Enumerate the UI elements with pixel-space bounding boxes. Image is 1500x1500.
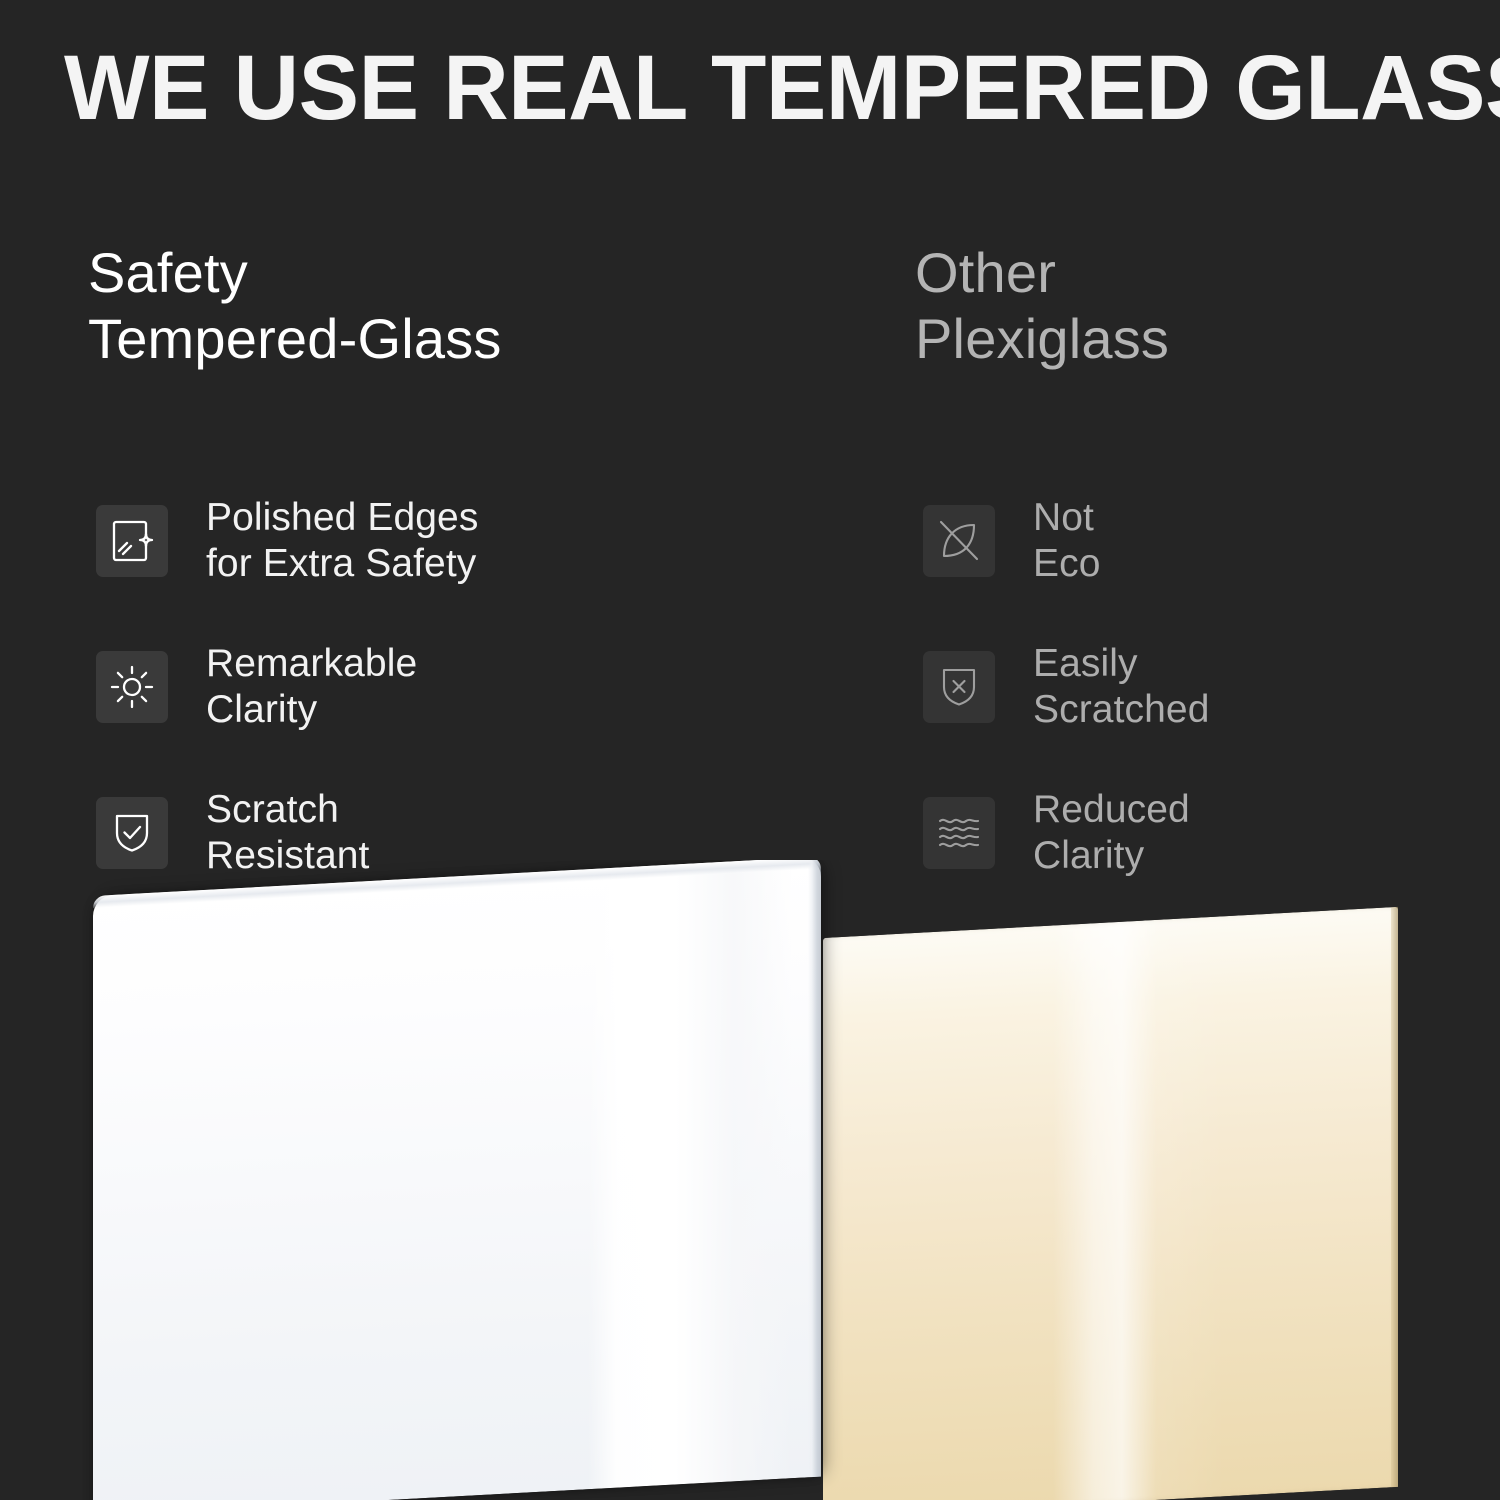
plexiglass-panel-edge [1391,907,1398,1487]
wavy-lines-blur-icon [923,797,995,869]
column-heading-plexiglass: Other Plexiglass [915,240,1500,372]
tempered-glass-polished-side-edge [808,860,821,1477]
feature-row: Polished Edges for Extra Safety [96,468,716,614]
infographic-canvas: WE USE REAL TEMPERED GLASS Safety Temper… [0,0,1500,1500]
feature-row: Remarkable Clarity [96,614,716,760]
comparison-column-tempered-glass: Safety Tempered-Glass Polished Edges for… [88,240,708,372]
product-comparison-photo [0,860,1500,1500]
feature-list-plexiglass: Not Eco Easily Scratched [923,468,1500,906]
tempered-glass-panel [93,860,821,1500]
comparison-column-plexiglass: Other Plexiglass Not Eco [915,240,1500,372]
leaf-slash-not-eco-icon [923,505,995,577]
feature-row: Easily Scratched [923,614,1500,760]
shield-x-icon [923,651,995,723]
feature-label: Not Eco [1033,495,1101,587]
page-title: WE USE REAL TEMPERED GLASS [64,40,1443,136]
plexiglass-panel [823,907,1398,1500]
feature-label: Easily Scratched [1033,641,1210,733]
feature-label: Remarkable Clarity [206,641,417,733]
column-heading-tempered-glass: Safety Tempered-Glass [88,240,708,372]
shield-check-icon [96,797,168,869]
sun-brightness-icon [96,651,168,723]
feature-row: Not Eco [923,468,1500,614]
polished-glass-pane-sparkle-icon [96,505,168,577]
feature-label: Polished Edges for Extra Safety [206,495,478,587]
feature-list-tempered-glass: Polished Edges for Extra Safety [96,468,716,906]
tempered-glass-polished-top-edge [93,860,821,908]
